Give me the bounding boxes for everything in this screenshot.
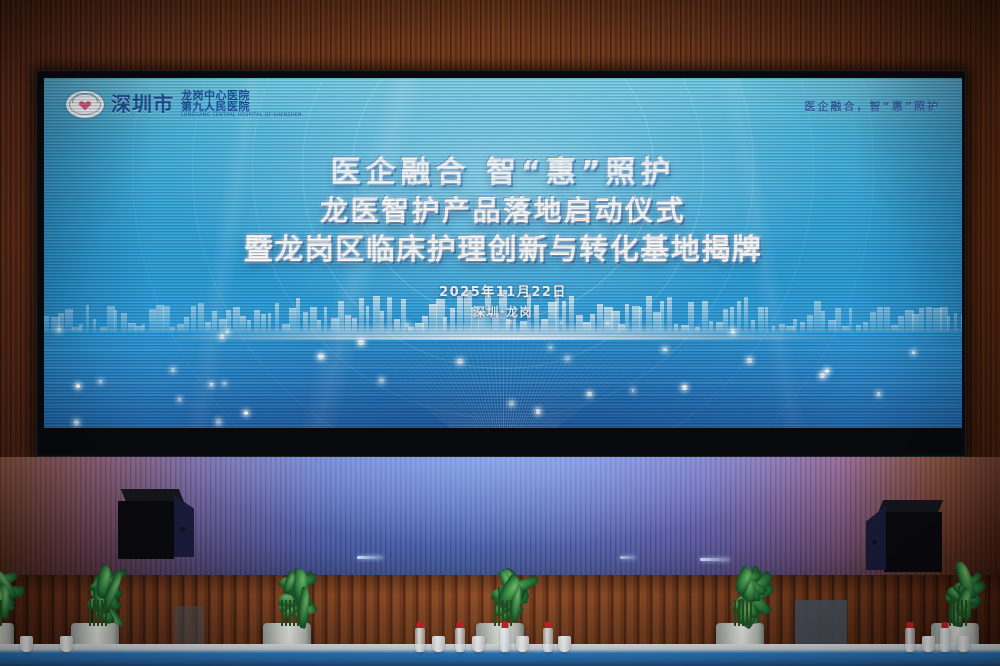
plant-stem [953, 600, 955, 626]
event-location: 深圳·龙岗 [44, 303, 962, 320]
plant-stem [105, 600, 107, 626]
table-microphone [700, 558, 730, 561]
water-bottle [543, 628, 553, 652]
paper-cup [432, 636, 445, 652]
water-bottle [940, 628, 950, 652]
paper-cup [558, 636, 571, 652]
plant-stem [293, 600, 295, 626]
paper-cup [922, 636, 935, 652]
plant-stem [965, 600, 967, 626]
plant-stem [746, 600, 748, 626]
title-line-1: 医企融合 智“惠”照护 [44, 156, 962, 191]
paper-cup [957, 636, 970, 652]
plant-stem [97, 600, 99, 626]
logo-hospital-block: 龙岗中心医院 第九人民医院 LONGGANG CENTRAL HOSPITAL … [181, 90, 302, 119]
plant-stem [494, 600, 496, 626]
plant-stem [93, 600, 95, 626]
paper-cup [60, 636, 73, 652]
plant-stem [101, 600, 103, 626]
paper-cup [516, 636, 529, 652]
plant-stem [285, 600, 287, 626]
event-date: 2025年11月22日 [44, 281, 962, 300]
paper-cup [20, 636, 33, 652]
stage-monitor-speaker-right [862, 500, 944, 572]
conference-hall-scene: 深圳市 龙岗中心医院 第九人民医院 LONGGANG CENTRAL HOSPI… [0, 0, 1000, 666]
plant-stem [289, 600, 291, 626]
hospital-crest-icon [66, 91, 104, 118]
screen-title-block: 医企融合 智“惠”照护 龙医智护产品落地启动仪式 暨龙岗区临床护理创新与转化基地… [44, 156, 962, 320]
hospital-logo: 深圳市 龙岗中心医院 第九人民医院 LONGGANG CENTRAL HOSPI… [66, 90, 302, 119]
plant-stem [742, 600, 744, 626]
plant-stem [750, 600, 752, 626]
plant-stem [498, 600, 500, 626]
led-display-panel[interactable]: 深圳市 龙岗中心医院 第九人民医院 LONGGANG CENTRAL HOSPI… [44, 78, 962, 428]
table-microphone [357, 556, 383, 559]
plant-stem [510, 600, 512, 626]
water-bottle [415, 628, 425, 652]
plant-stem [738, 600, 740, 626]
water-bottle [455, 628, 465, 652]
plant-stem [957, 600, 959, 626]
plant-stem [297, 600, 299, 626]
title-line-2: 龙医智护产品落地启动仪式 [44, 195, 962, 227]
plant-stem [89, 600, 91, 626]
event-meta: 2025年11月22日 深圳·龙岗 [44, 281, 962, 320]
plant-stem [0, 600, 2, 626]
water-bottle [905, 628, 915, 652]
title-line-3: 暨龙岗区临床护理创新与转化基地揭牌 [44, 233, 962, 267]
plant-stem [949, 600, 951, 626]
water-bottle [500, 628, 510, 652]
plant-stem [961, 600, 963, 626]
plant-stem [281, 600, 283, 626]
plant-stem [734, 600, 736, 626]
logo-english-text: LONGGANG CENTRAL HOSPITAL OF SHENZHEN [181, 114, 302, 119]
screen-tagline: 医企融合，智“惠”照护 [805, 98, 940, 114]
logo-city-text: 深圳市 [111, 94, 174, 114]
logo-hospital-line2: 第九人民医院 [181, 101, 302, 112]
stage-monitor-speaker-left [118, 489, 196, 559]
paper-cup [472, 636, 485, 652]
table-microphone [620, 556, 636, 559]
perspective-grid [44, 308, 962, 428]
